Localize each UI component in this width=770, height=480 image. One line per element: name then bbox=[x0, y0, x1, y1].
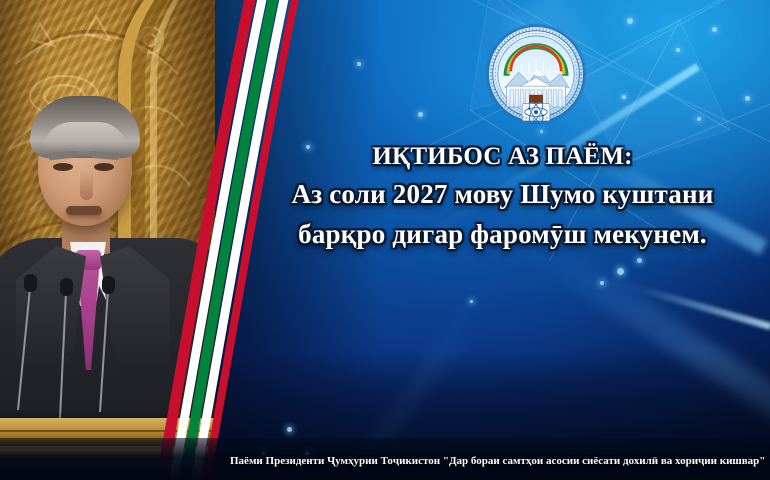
source-caption: Паёми Президенти Ҷумҳурии Тоҷикистон "Да… bbox=[230, 454, 764, 469]
quote-line-2: Аз соли 2027 мову Шумо куштани bbox=[240, 174, 765, 214]
quote-text-block: ИҚТИБОС АЗ ПАЁМ: Аз соли 2027 мову Шумо … bbox=[240, 140, 765, 254]
bokeh-dot bbox=[418, 112, 423, 117]
bokeh-dot bbox=[357, 62, 361, 66]
bokeh-dot bbox=[600, 281, 604, 285]
bokeh-dot bbox=[627, 18, 633, 24]
state-emblem-seal bbox=[484, 22, 588, 126]
bokeh-dot bbox=[540, 130, 543, 133]
quote-heading: ИҚТИБОС АЗ ПАЁМ: bbox=[240, 140, 765, 174]
bokeh-dot bbox=[712, 27, 717, 32]
bokeh-dot bbox=[697, 117, 701, 121]
bokeh-dot bbox=[470, 300, 473, 303]
bokeh-dot bbox=[617, 268, 624, 275]
bokeh-dot bbox=[637, 258, 642, 263]
bokeh-dot bbox=[745, 96, 750, 101]
bokeh-dot bbox=[676, 48, 680, 52]
banner-image: ИҚТИБОС АЗ ПАЁМ: Аз соли 2027 мову Шумо … bbox=[0, 0, 770, 480]
quote-line-3: барқро дигар фаромӯш мекунем. bbox=[240, 214, 765, 254]
bokeh-dot bbox=[622, 95, 626, 99]
